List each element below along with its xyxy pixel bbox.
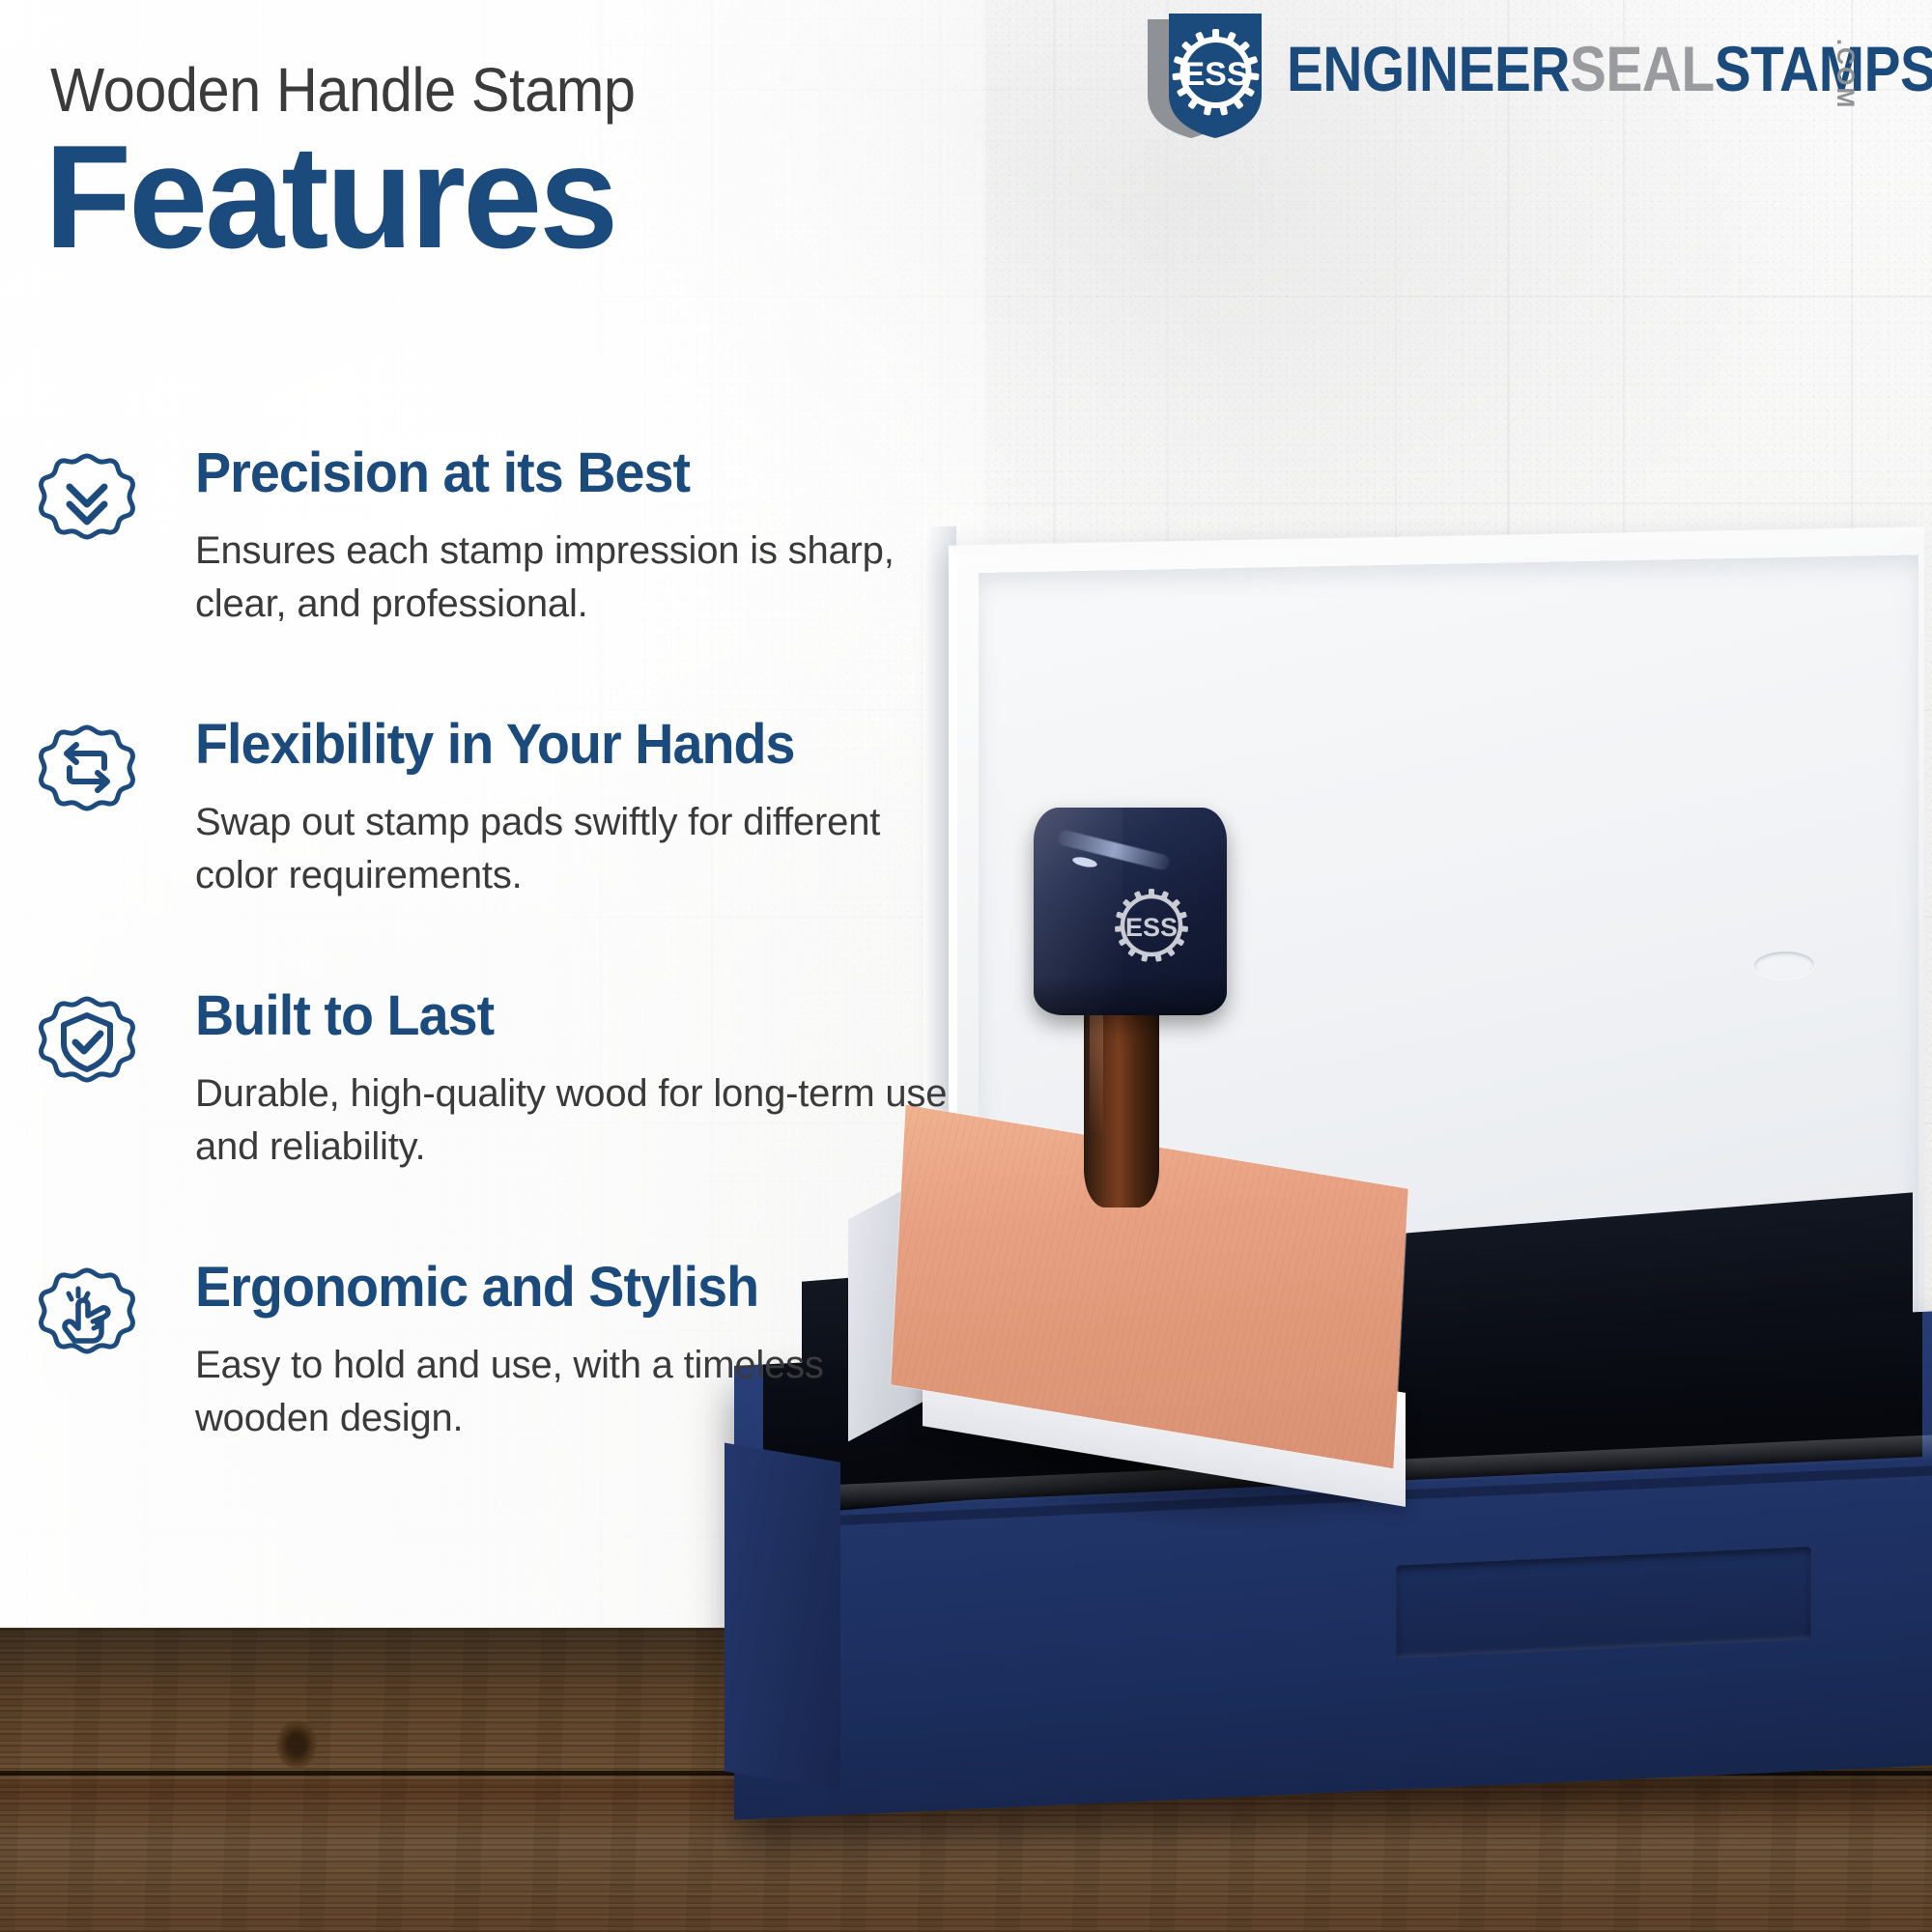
shield-check-badge-icon [33, 993, 141, 1101]
feature-title: Precision at its Best [195, 444, 1041, 501]
feature-title: Ergonomic and Stylish [195, 1259, 1041, 1316]
feature-item: Built to Last Durable, high-quality wood… [33, 987, 1076, 1195]
feature-item: Precision at its Best Ensures each stamp… [33, 444, 1076, 652]
pointing-hand-click-badge-icon [33, 1264, 141, 1373]
feature-description: Ensures each stamp impression is sharp, … [195, 525, 958, 631]
feature-list: Precision at its Best Ensures each stamp… [33, 444, 1076, 1530]
swap-arrows-badge-icon [33, 722, 141, 830]
brand-tld: .COM [1831, 39, 1859, 109]
double-chevron-down-badge-icon [33, 450, 141, 558]
feature-description: Durable, high-quality wood for long-term… [195, 1067, 958, 1174]
brand-word-seal: SEAL [1570, 33, 1715, 104]
feature-title: Built to Last [195, 987, 1041, 1044]
ess-shield-gear-logo-icon: ESS [1142, 12, 1277, 142]
feature-description: Easy to hold and use, with a timeless wo… [195, 1339, 958, 1445]
brand-logo[interactable]: ESS ENGINEERSEALSTAMPS .COM [1142, 12, 1915, 142]
feature-item: Flexibility in Your Hands Swap out stamp… [33, 716, 1076, 923]
box-base-thumb-notch [1396, 1547, 1811, 1659]
brand-word-engineer: ENGINEER [1287, 33, 1570, 104]
brand-word-stamps: STAMPS [1715, 33, 1932, 104]
feature-item: Ergonomic and Stylish Easy to hold and u… [33, 1259, 1076, 1466]
logo-mark-text: ESS [1182, 56, 1248, 93]
feature-title: Flexibility in Your Hands [195, 716, 1041, 773]
feature-description: Swap out stamp pads swiftly for differen… [195, 796, 958, 902]
box-lid-dent-right [1754, 951, 1814, 979]
content-column: Wooden Handle Stamp Features Precision a… [0, 0, 1140, 1932]
page-title: Features [44, 124, 615, 270]
